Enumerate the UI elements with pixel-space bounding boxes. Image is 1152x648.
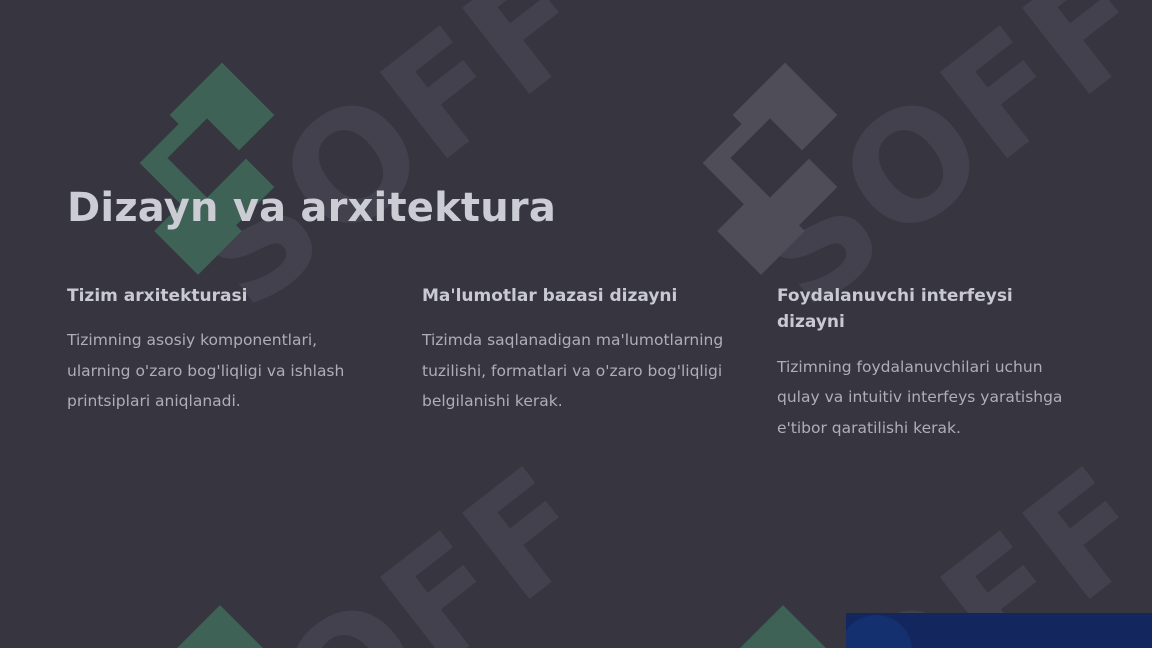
column-heading: Tizim arxitekturasi	[67, 283, 382, 309]
page-title: Dizayn va arxitektura	[67, 185, 556, 231]
column-heading: Foydalanuvchi interfeysi dizayni	[777, 283, 1085, 336]
column-database-design: Ma'lumotlar bazasi dizayni Tizimda saqla…	[422, 283, 777, 443]
column-heading: Ma'lumotlar bazasi dizayni	[422, 283, 737, 309]
column-body: Tizimning asosiy komponentlari, ularning…	[67, 325, 382, 417]
column-body: Tizimning foydalanuvchilari uchun qulay …	[777, 352, 1085, 444]
bottom-right-navy-panel	[846, 613, 1152, 648]
columns-container: Tizim arxitekturasi Tizimning asosiy kom…	[67, 283, 1085, 443]
slide-canvas: SOFF SOFF SOFF SOFF Dizayn va arxitektur…	[0, 0, 1152, 648]
column-system-architecture: Tizim arxitekturasi Tizimning asosiy kom…	[67, 283, 422, 443]
column-body: Tizimda saqlanadigan ma'lumotlarning tuz…	[422, 325, 737, 417]
panel-decorative-blob	[846, 615, 912, 648]
slide-content: Dizayn va arxitektura Tizim arxitekturas…	[0, 0, 1152, 648]
column-user-interface-design: Foydalanuvchi interfeysi dizayni Tizimni…	[777, 283, 1085, 443]
